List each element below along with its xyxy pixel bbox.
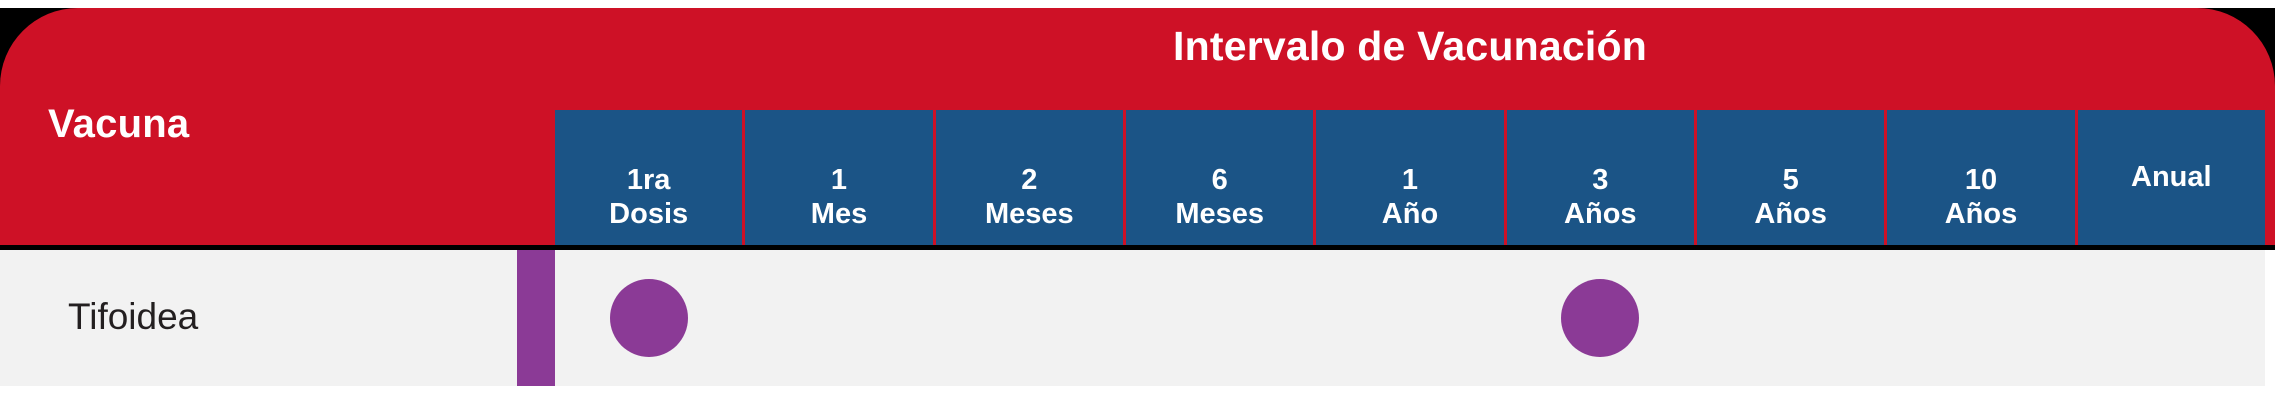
right-gutter: [2265, 250, 2275, 386]
column-header-row: 1raDosis1Mes2Meses6Meses1Año3Años5Años10…: [555, 110, 2265, 245]
column-header-3[interactable]: 2Meses: [936, 110, 1123, 245]
row-cells: [555, 250, 2265, 386]
column-header-unit: Meses: [985, 197, 1074, 231]
column-header-unit: Años: [1564, 197, 1637, 231]
column-header-unit: Mes: [811, 197, 867, 231]
column-header-number: 1: [831, 163, 847, 197]
bottom-white-margin: [0, 386, 2275, 404]
vaccination-schedule-table: Intervalo de Vacunación Vacuna 1raDosis1…: [0, 0, 2275, 404]
column-header-1[interactable]: 1raDosis: [555, 110, 742, 245]
column-header-number: 3: [1592, 163, 1608, 197]
column-header-6[interactable]: 3Años: [1507, 110, 1694, 245]
column-header-unit: Año: [1382, 197, 1438, 231]
column-header-unit: Meses: [1175, 197, 1264, 231]
column-header-number: 2: [1021, 163, 1037, 197]
column-header-number: 5: [1783, 163, 1799, 197]
column-header-2[interactable]: 1Mes: [745, 110, 932, 245]
column-header-4[interactable]: 6Meses: [1126, 110, 1313, 245]
schedule-cell-1[interactable]: [555, 250, 742, 386]
filled-circle-icon: [610, 279, 688, 357]
column-header-9[interactable]: Anual: [2078, 110, 2265, 245]
schedule-cell-3[interactable]: [936, 250, 1123, 386]
column-header-5[interactable]: 1Año: [1316, 110, 1503, 245]
filled-circle-icon: [1561, 279, 1639, 357]
column-header-8[interactable]: 10Años: [1887, 110, 2074, 245]
group-header-title: Intervalo de Vacunación: [555, 24, 2265, 69]
schedule-cell-4[interactable]: [1126, 250, 1313, 386]
top-white-margin: [0, 0, 2275, 8]
column-header-7[interactable]: 5Años: [1697, 110, 1884, 245]
schedule-cell-5[interactable]: [1316, 250, 1503, 386]
schedule-cell-9[interactable]: [2078, 250, 2265, 386]
vaccine-name-cell: Tifoidea: [68, 296, 198, 338]
schedule-cell-8[interactable]: [1887, 250, 2074, 386]
column-header-unit: Años: [1754, 197, 1827, 231]
row-header-title: Vacuna: [48, 102, 189, 147]
column-header-number: 10: [1965, 163, 1997, 197]
table-row: Tifoidea: [0, 250, 2265, 386]
column-header-unit: Dosis: [609, 197, 688, 231]
column-header-number: 1: [1402, 163, 1418, 197]
column-header-number: 6: [1212, 163, 1228, 197]
schedule-cell-7[interactable]: [1697, 250, 1884, 386]
schedule-cell-2[interactable]: [745, 250, 932, 386]
schedule-cell-6[interactable]: [1507, 250, 1694, 386]
column-header-number: 1ra: [627, 163, 671, 197]
column-header-unit: Anual: [2131, 160, 2212, 194]
column-header-unit: Años: [1945, 197, 2018, 231]
row-accent-bar: [517, 250, 555, 386]
